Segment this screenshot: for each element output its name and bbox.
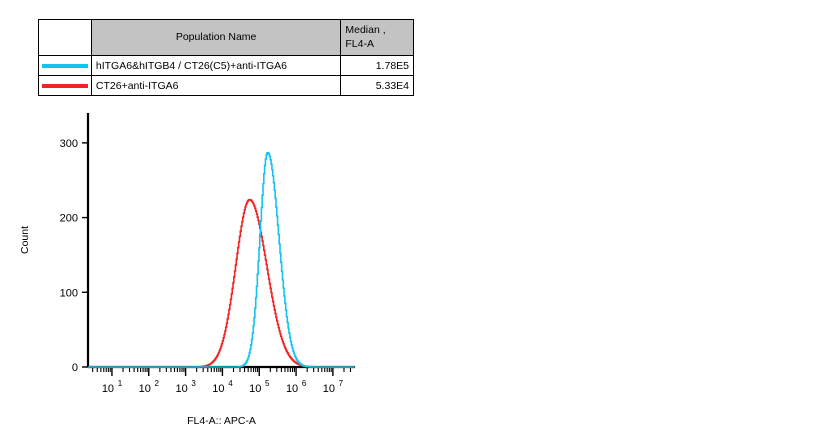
y-axis-ticks: 0100200300 [60,138,88,374]
red-swatch [42,84,88,88]
histogram-svg-fl4a: 0100200300Count101102103104105106107FL4-… [0,100,414,445]
x-tick-label-exponent: 5 [265,379,270,388]
legend-median-value: 1.78E5 [341,56,414,76]
histogram-plot-fl4a: 0100200300Count101102103104105106107FL4-… [0,100,414,445]
table-row: CT26+anti-ITGA6 5.33E4 [39,76,414,96]
x-axis-tick-labels: 101102103104105106107 [102,379,344,395]
x-tick-label-base: 10 [286,383,298,395]
y-tick-label: 0 [72,362,78,374]
legend-swatch-cell [39,76,92,96]
x-axis-ticks [93,367,351,376]
legend-population-label: hITGA6&hITGB4 / CT26(C5)+anti-ITGA6 [91,56,340,76]
histogram-curve-red [88,200,355,367]
legend-header-median-line2: FL4-A [345,38,410,51]
x-tick-label-exponent: 2 [155,379,160,388]
x-tick-label-exponent: 4 [228,379,233,388]
x-tick-label-exponent: 1 [118,379,123,388]
legend-header-median: Median , FL4-A [341,20,414,56]
x-tick-label-base: 10 [249,383,261,395]
legend-swatch-cell [39,56,92,76]
x-tick-label-base: 10 [175,383,187,395]
table-row: hITGA6&hITGB4 / CT26(C5)+anti-ITGA6 1.78… [39,56,414,76]
cyan-swatch [42,64,88,68]
y-tick-label: 200 [60,213,78,225]
x-axis-title: FL4-A:: APC-A [187,415,256,427]
x-tick-label-base: 10 [323,383,335,395]
legend-population-label: CT26+anti-ITGA6 [91,76,340,96]
legend-table-fl4a: Population Name Median , FL4-A hITGA6&hI… [38,19,414,96]
x-tick-label-base: 10 [102,383,114,395]
legend-median-value: 5.33E4 [341,76,414,96]
panel-fl2a: Population Name Median , FL2-A hITGA6&hI… [414,0,828,445]
legend-header-row: Population Name Median , FL4-A [39,20,414,56]
x-tick-label-exponent: 6 [302,379,307,388]
y-axis-title: Count [19,226,31,254]
panel-fl4a: Population Name Median , FL4-A hITGA6&hI… [0,0,414,445]
legend-header-swatch [39,20,92,56]
legend-header-median-line1: Median , [345,24,410,37]
y-tick-label: 300 [60,138,78,150]
x-tick-label-exponent: 3 [191,379,196,388]
legend-header-population-name: Population Name [91,20,340,56]
plot-frame [88,113,355,367]
y-tick-label: 100 [60,287,78,299]
x-tick-label-base: 10 [139,383,151,395]
x-tick-label-exponent: 7 [339,379,344,388]
x-tick-label-base: 10 [212,383,224,395]
histogram-curve-cyan [88,153,355,367]
